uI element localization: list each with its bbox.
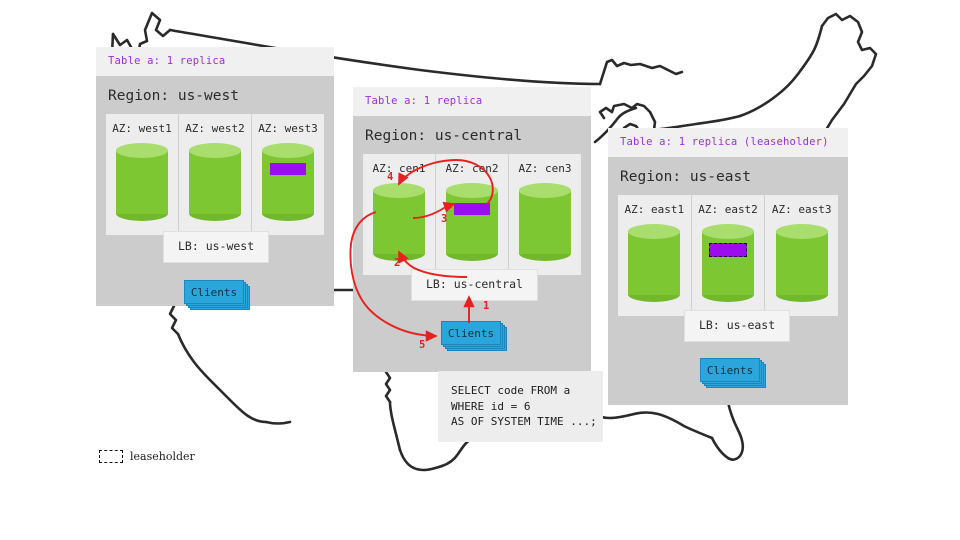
dashed-rect-icon bbox=[99, 450, 123, 463]
replica-badge-west3 bbox=[270, 163, 306, 175]
az-cen3[interactable]: AZ: cen3 bbox=[508, 154, 581, 275]
node-cylinder-east3[interactable] bbox=[776, 224, 828, 302]
az-label-cen2: AZ: cen2 bbox=[436, 163, 508, 174]
az-row-us-east: AZ: east1 AZ: east2 bbox=[618, 195, 838, 316]
cylinder-top-icon bbox=[628, 224, 680, 239]
sql-query-box: SELECT code FROM a WHERE id = 6 AS OF SY… bbox=[438, 371, 603, 442]
az-label-east3: AZ: east3 bbox=[765, 204, 838, 215]
region-header-us-central: Table a: 1 replica bbox=[353, 87, 591, 116]
load-balancer-us-west[interactable]: LB: us-west bbox=[163, 231, 269, 263]
cylinder-top-icon bbox=[373, 183, 425, 198]
load-balancer-us-east[interactable]: LB: us-east bbox=[684, 310, 790, 342]
cylinder-body-icon bbox=[262, 150, 314, 214]
clients-us-east[interactable]: Clients bbox=[700, 358, 762, 384]
flow-step-label-3: 3 bbox=[441, 214, 447, 225]
cylinder-body-icon bbox=[519, 190, 571, 254]
cylinder-body-icon bbox=[628, 231, 680, 295]
cylinder-top-icon bbox=[262, 143, 314, 158]
region-body-us-west: Region: us-west AZ: west1 AZ: west2 bbox=[96, 76, 334, 306]
az-west2[interactable]: AZ: west2 bbox=[178, 114, 251, 235]
region-title-us-east: Region: us-east bbox=[608, 157, 848, 196]
cylinder-top-icon bbox=[702, 224, 754, 239]
replica-badge-leaseholder-east2 bbox=[709, 243, 747, 257]
node-cylinder-east1[interactable] bbox=[628, 224, 680, 302]
cylinder-top-icon bbox=[116, 143, 168, 158]
node-cylinder-west3[interactable] bbox=[262, 143, 314, 221]
region-header-us-east: Table a: 1 replica (leaseholder) bbox=[608, 128, 848, 157]
clients-label-us-east: Clients bbox=[700, 358, 760, 382]
az-label-west2: AZ: west2 bbox=[179, 123, 251, 134]
region-panel-us-west: Table a: 1 replica Region: us-west AZ: w… bbox=[96, 47, 334, 306]
node-cylinder-east2[interactable] bbox=[702, 224, 754, 302]
cylinder-top-icon bbox=[519, 183, 571, 198]
az-label-west3: AZ: west3 bbox=[252, 123, 324, 134]
region-title-us-central: Region: us-central bbox=[353, 116, 591, 155]
az-row-us-west: AZ: west1 AZ: west2 AZ bbox=[106, 114, 324, 235]
region-panel-us-east: Table a: 1 replica (leaseholder) Region:… bbox=[608, 128, 848, 405]
flow-step-label-5: 5 bbox=[419, 340, 425, 351]
az-label-cen3: AZ: cen3 bbox=[509, 163, 581, 174]
az-label-east2: AZ: east2 bbox=[692, 204, 765, 215]
flow-step-label-2: 2 bbox=[394, 258, 400, 269]
az-east2[interactable]: AZ: east2 bbox=[691, 195, 765, 316]
clients-label-us-central: Clients bbox=[441, 321, 501, 345]
az-east1[interactable]: AZ: east1 bbox=[618, 195, 691, 316]
az-label-east1: AZ: east1 bbox=[618, 204, 691, 215]
cylinder-body-icon bbox=[373, 190, 425, 254]
cylinder-body-icon bbox=[189, 150, 241, 214]
cylinder-body-icon bbox=[116, 150, 168, 214]
legend-label: leaseholder bbox=[130, 450, 195, 463]
node-cylinder-cen2[interactable] bbox=[446, 183, 498, 261]
cylinder-top-icon bbox=[189, 143, 241, 158]
node-cylinder-west1[interactable] bbox=[116, 143, 168, 221]
az-west1[interactable]: AZ: west1 bbox=[106, 114, 178, 235]
cylinder-body-icon bbox=[776, 231, 828, 295]
region-panel-us-central: Table a: 1 replica Region: us-central AZ… bbox=[353, 87, 591, 372]
clients-us-central[interactable]: Clients bbox=[441, 321, 503, 347]
flow-step-label-4: 4 bbox=[387, 172, 393, 183]
az-label-cen1: AZ: cen1 bbox=[363, 163, 435, 174]
diagram-canvas: Table a: 1 replica Region: us-west AZ: w… bbox=[0, 0, 960, 540]
cylinder-body-icon bbox=[702, 231, 754, 295]
cylinder-body-icon bbox=[446, 190, 498, 254]
cylinder-top-icon bbox=[446, 183, 498, 198]
load-balancer-us-central[interactable]: LB: us-central bbox=[411, 269, 538, 301]
region-header-us-west: Table a: 1 replica bbox=[96, 47, 334, 76]
node-cylinder-cen1[interactable] bbox=[373, 183, 425, 261]
replica-badge-cen2 bbox=[454, 203, 490, 215]
node-cylinder-west2[interactable] bbox=[189, 143, 241, 221]
clients-label-us-west: Clients bbox=[184, 280, 244, 304]
flow-step-label-1: 1 bbox=[483, 301, 489, 312]
clients-us-west[interactable]: Clients bbox=[184, 280, 246, 306]
az-west3[interactable]: AZ: west3 bbox=[251, 114, 324, 235]
cylinder-top-icon bbox=[776, 224, 828, 239]
legend: leaseholder bbox=[99, 450, 195, 463]
az-label-west1: AZ: west1 bbox=[106, 123, 178, 134]
node-cylinder-cen3[interactable] bbox=[519, 183, 571, 261]
az-east3[interactable]: AZ: east3 bbox=[764, 195, 838, 316]
region-title-us-west: Region: us-west bbox=[96, 76, 334, 115]
